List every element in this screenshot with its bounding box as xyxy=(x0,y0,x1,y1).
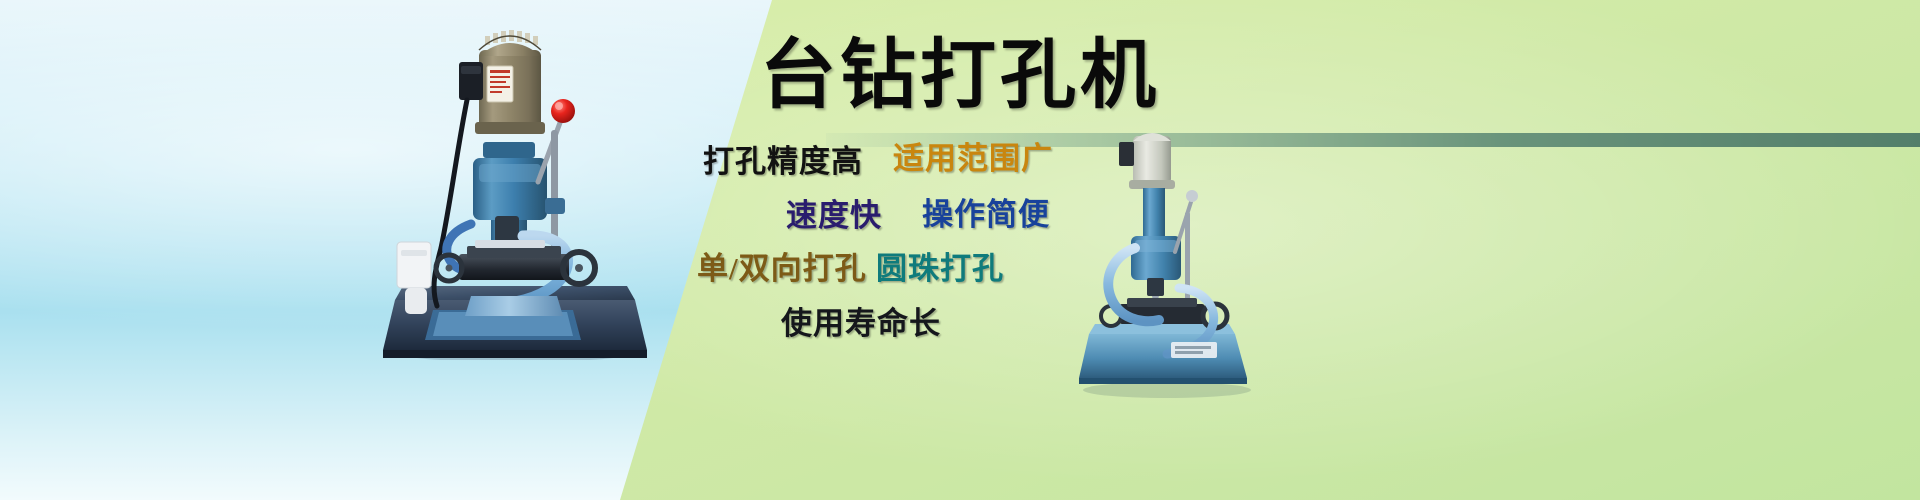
feature-text-6: 圆珠打孔 xyxy=(876,253,1004,284)
feature-text-1: 打孔精度高 xyxy=(703,146,863,177)
feature-text-2: 适用范围广 xyxy=(893,143,1053,174)
feature-text-7: 使用寿命长 xyxy=(781,308,941,339)
feature-text-5: 单/双向打孔 xyxy=(697,253,867,284)
feature-text-3: 速度快 xyxy=(786,200,882,231)
banner-title: 台钻打孔机 xyxy=(760,38,1160,114)
bench-drill-machine-photo-small xyxy=(1075,128,1255,400)
feature-text-4: 操作简便 xyxy=(922,199,1050,230)
product-banner: 台钻打孔机 打孔精度高 适用范围广 速度快 操作简便 单/双向打孔 圆珠打孔 使… xyxy=(0,0,1920,500)
bench-drill-machine-photo xyxy=(375,10,650,360)
